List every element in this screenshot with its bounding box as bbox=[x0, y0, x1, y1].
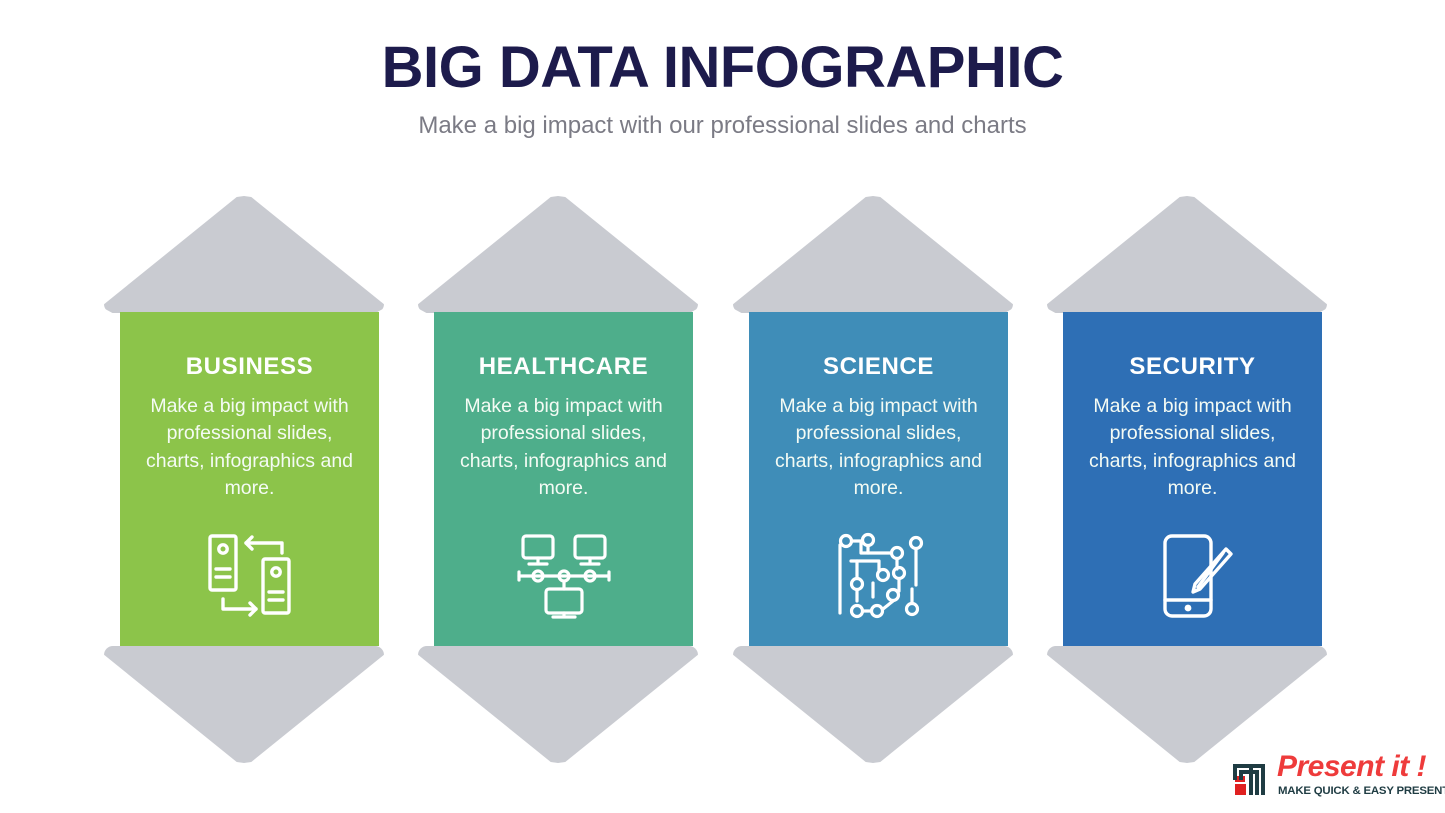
infographic-column-healthcare[interactable]: HEALTHCARE Make a big impact with profes… bbox=[401, 196, 715, 776]
arrow-up-shape bbox=[733, 196, 1013, 313]
column-description: Make a big impact with professional slid… bbox=[1081, 393, 1305, 501]
page-subtitle: Make a big impact with our professional … bbox=[0, 112, 1445, 141]
column-title: SCIENCE bbox=[749, 312, 1008, 380]
logo-wordmark: Present it ! bbox=[1277, 752, 1426, 782]
column-body: BUSINESS Make a big impact with professi… bbox=[120, 312, 379, 646]
circuit-board-icon bbox=[749, 528, 1008, 624]
logo-tagline: MAKE QUICK & EASY PRESENTATIONS bbox=[1278, 785, 1445, 797]
column-title: BUSINESS bbox=[120, 312, 379, 380]
arrow-up-shape bbox=[418, 196, 698, 313]
arrow-down-shape bbox=[418, 646, 698, 763]
computer-network-icon bbox=[434, 528, 693, 624]
page-title: BIG DATA INFOGRAPHIC bbox=[0, 38, 1445, 99]
ascending-bars-logo-mark bbox=[1233, 755, 1275, 797]
column-description: Make a big impact with professional slid… bbox=[138, 393, 362, 501]
infographic-columns: BUSINESS Make a big impact with professi… bbox=[0, 196, 1445, 776]
infographic-column-business[interactable]: BUSINESS Make a big impact with professi… bbox=[87, 196, 401, 776]
column-body: SECURITY Make a big impact with professi… bbox=[1063, 312, 1322, 646]
tablet-stylus-icon bbox=[1063, 528, 1322, 624]
arrow-down-shape bbox=[104, 646, 384, 763]
arrow-down-shape bbox=[733, 646, 1013, 763]
column-description: Make a big impact with professional slid… bbox=[452, 393, 676, 501]
column-title: SECURITY bbox=[1063, 312, 1322, 380]
arrow-down-shape bbox=[1047, 646, 1327, 763]
column-description: Make a big impact with professional slid… bbox=[767, 393, 991, 501]
infographic-column-security[interactable]: SECURITY Make a big impact with professi… bbox=[1030, 196, 1344, 776]
column-title: HEALTHCARE bbox=[434, 312, 693, 380]
arrow-up-shape bbox=[1047, 196, 1327, 313]
infographic-column-science[interactable]: SCIENCE Make a big impact with professio… bbox=[716, 196, 1030, 776]
column-body: HEALTHCARE Make a big impact with profes… bbox=[434, 312, 693, 646]
server-data-transfer-icon bbox=[120, 528, 379, 624]
arrow-up-shape bbox=[104, 196, 384, 313]
column-body: SCIENCE Make a big impact with professio… bbox=[749, 312, 1008, 646]
brand-logo: Present it ! MAKE QUICK & EASY PRESENTAT… bbox=[1233, 752, 1433, 802]
header: BIG DATA INFOGRAPHIC Make a big impact w… bbox=[0, 38, 1445, 141]
